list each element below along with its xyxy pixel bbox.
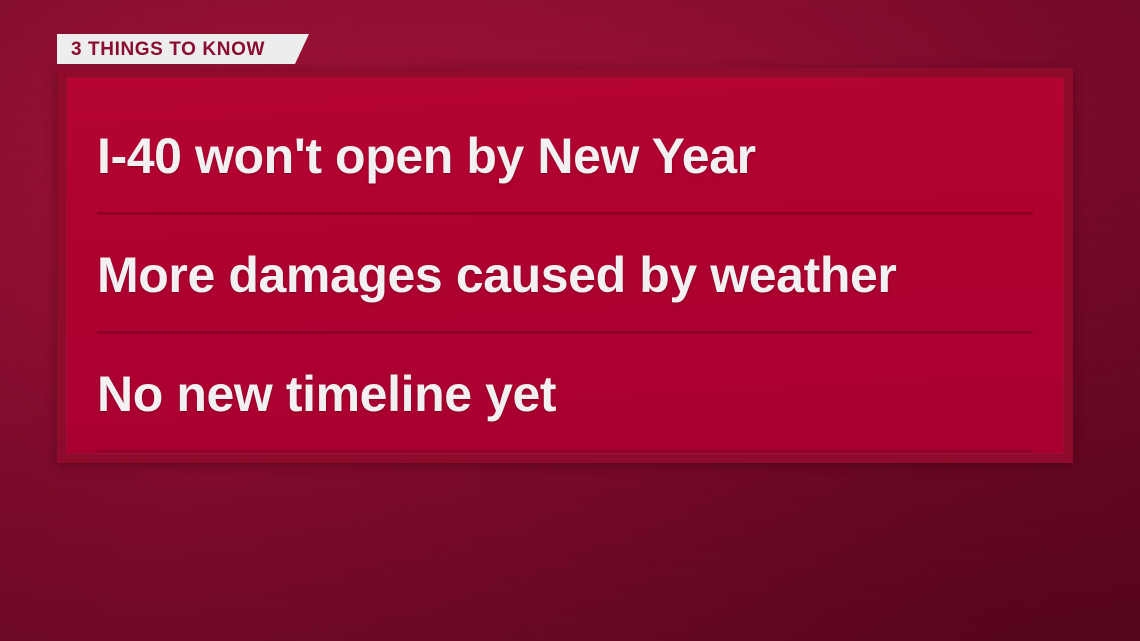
headline-text: No new timeline yet <box>97 368 556 420</box>
headline-row: More damages caused by weather <box>97 215 1033 334</box>
section-tab-label: 3 THINGS TO KNOW <box>71 40 265 59</box>
news-graphic-screen: 3 THINGS TO KNOW I-40 won't open by New … <box>0 0 1140 641</box>
headline-divider <box>97 450 1033 453</box>
headline-panel-inner: I-40 won't open by New Year More damages… <box>66 77 1064 454</box>
section-tab: 3 THINGS TO KNOW <box>57 34 309 64</box>
headline-row: No new timeline yet <box>97 334 1033 453</box>
headline-row: I-40 won't open by New Year <box>97 96 1033 215</box>
headline-text: I-40 won't open by New Year <box>97 130 756 182</box>
headline-text: More damages caused by weather <box>97 249 896 301</box>
headline-panel: I-40 won't open by New Year More damages… <box>57 68 1073 463</box>
